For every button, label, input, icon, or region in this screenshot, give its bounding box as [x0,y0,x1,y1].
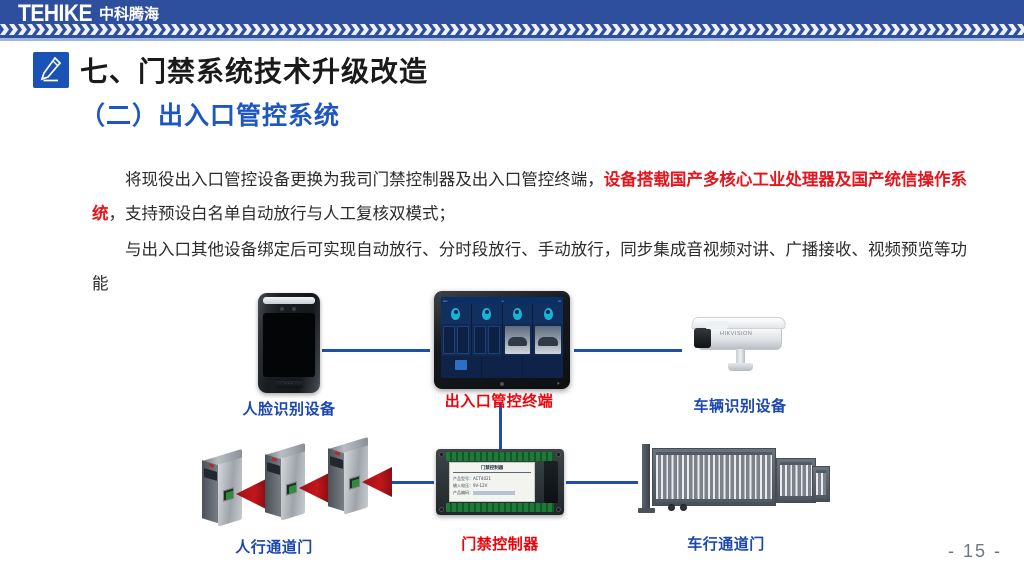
paragraph-1-part-a: 将现役出入口管控设备更换为我司门禁控制器及出入口管控终端， [125,170,604,189]
chevron-icon [657,24,666,35]
connector-controller-to-gate [566,481,638,484]
chevron-icon [1017,24,1024,35]
terminal-screen: ▪▪▪▪▪▪▪▪▪ [441,297,563,378]
label-pedestrian-gate: 人行通道门 [164,536,384,557]
controller-voltage-label: 输入电压： [453,483,473,488]
chevron-icon [468,24,477,35]
chevron-icon [531,24,540,35]
terminal-panel-1-avatar-area [441,304,471,324]
chevron-icon [198,24,207,35]
chevron-icon [621,24,630,35]
camera-base [728,363,753,371]
chevron-icon [45,24,54,35]
label-vehicle-gate: 车行通道门 [616,533,836,554]
chevron-icon [891,24,900,35]
chevron-icon [135,24,144,35]
chevron-icon [801,24,810,35]
gate-post-base [638,508,655,513]
connector-terminal-to-camera [574,349,682,352]
controller-code-barcode [473,491,515,495]
terminal-panel-4 [533,304,563,356]
label-entrance-control-terminal: 出入口管控终端 [389,390,609,411]
chevron-icon [666,24,675,35]
chevron-icon [126,24,135,35]
chevron-icon [963,24,972,35]
chevron-icon [747,24,756,35]
chevron-icon [729,24,738,35]
terminal-screen-columns [441,304,563,356]
terminal-footer-cell-3 [523,356,563,378]
terminal-panel-1-body [441,324,471,356]
chevron-icon [189,24,198,35]
chevron-icon [108,24,117,35]
chevron-icon [360,24,369,35]
page-number: - 15 - [948,541,1002,562]
chevron-icon [324,24,333,35]
chevron-icon [243,24,252,35]
chevron-icon [423,24,432,35]
terminal-panel-3-avatar-area [503,304,533,324]
person-avatar-icon [513,308,522,320]
chevron-icon [369,24,378,35]
chevron-icon [54,24,63,35]
chevron-icon [486,24,495,35]
controller-model-label: 产品型号： [453,476,473,481]
chevron-icon [333,24,342,35]
chevron-icon [585,24,594,35]
chevron-icon [540,24,549,35]
chevron-icon [900,24,909,35]
chevron-icon [378,24,387,35]
chevron-icon [765,24,774,35]
company-logo: TEHIKE 中科腾海 [18,3,159,25]
chevron-icon [252,24,261,35]
app-header-bar: TEHIKE 中科腾海 [0,0,1024,38]
header-underline [0,38,1024,41]
person-avatar-icon [451,308,460,320]
chevron-icon [144,24,153,35]
gate-wheel [680,504,687,511]
chevron-icon [972,24,981,35]
chevron-icon [936,24,945,35]
chevron-icon [153,24,162,35]
controller-screw [439,507,444,512]
pedestrian-turnstile-group-image [196,443,386,529]
gate-rail-top [816,470,826,473]
face-device-speaker: ··· [275,381,303,388]
chevron-icon [630,24,639,35]
chevron-icon [90,24,99,35]
chevron-icon [549,24,558,35]
chevron-icon [990,24,999,35]
controller-side-connector [544,461,558,503]
paragraph-1-part-b: ，支持预设白名单自动放行与人工复核双模式； [109,204,456,223]
face-device-light-bar [263,297,315,304]
person-avatar-icon [544,308,553,320]
controller-voltage-value: 9V-12V [473,483,487,488]
terminal-home-indicator [500,382,504,386]
label-access-controller: 门禁控制器 [390,533,610,554]
chevron-icon [855,24,864,35]
chevron-icon [405,24,414,35]
chevron-icon [396,24,405,35]
chevron-icon [576,24,585,35]
chevron-icon [9,24,18,35]
chevron-icon [36,24,45,35]
terminal-card [488,326,500,354]
controller-screw [556,507,561,512]
chevron-icon [99,24,108,35]
body-text-block: 将现役出入口管控设备更换为我司门禁控制器及出入口管控终端，设备搭载国产多核心工业… [92,163,967,301]
chevron-icon [522,24,531,35]
paragraph-1: 将现役出入口管控设备更换为我司门禁控制器及出入口管控终端，设备搭载国产多核心工业… [92,163,967,231]
gate-leaf-end [812,466,830,502]
controller-screw [556,452,561,457]
chevron-icon [612,24,621,35]
chevron-icon [999,24,1008,35]
chevron-icon [738,24,747,35]
terminal-screen-topbar: ▪▪▪▪▪▪▪▪▪ [441,297,563,304]
chevron-pattern-strip [0,24,1024,35]
chevron-icon [513,24,522,35]
chevron-icon [72,24,81,35]
vehicle-sliding-gate-image [640,440,832,526]
chevron-icon [504,24,513,35]
chevron-icon [495,24,504,35]
chevron-icon [945,24,954,35]
controller-plate-row-voltage: 输入电压：9V-12V [453,482,531,489]
terminal-panel-3-body [503,324,533,356]
turnstile-unit [322,443,374,517]
chevron-icon [981,24,990,35]
pencil-edit-icon [33,52,69,88]
label-vehicle-recognition-device: 车辆识别设备 [630,395,850,416]
terminal-footer-cell-1 [441,356,482,378]
vehicle-recognition-camera-image: HIKVISION [684,305,804,381]
terminal-panel-2-avatar-area [472,304,502,324]
chevron-icon [792,24,801,35]
controller-terminal-block-top [446,452,554,461]
chevron-icon [234,24,243,35]
chevron-icon [270,24,279,35]
camera-brand-text: HIKVISION [720,331,752,337]
page-subtitle: （二）出入口管控系统 [80,96,340,132]
controller-spec-plate: 门禁控制器 产品型号：ACT4021 输入电压：9V-12V 产品编码： [449,462,535,502]
terminal-card [457,326,469,354]
chevron-icon [261,24,270,35]
gate-rail-top [780,462,812,465]
gate-leaf-middle [776,458,816,503]
chevron-icon [450,24,459,35]
chevron-icon [882,24,891,35]
controller-plate-row-code: 产品编码： [453,489,531,496]
terminal-panel-4-body [533,324,563,356]
gate-rail-bottom [656,499,772,502]
label-face-recognition-device: 人脸识别设备 [179,398,399,419]
chevron-icon [441,24,450,35]
chevron-icon [846,24,855,35]
chevron-icon [342,24,351,35]
chevron-icon [864,24,873,35]
system-topology-diagram: ··· 人脸识别设备 ▪▪▪▪▪▪▪▪▪ [0,285,1024,555]
chevron-icon [459,24,468,35]
chevron-icon [648,24,657,35]
controller-plate-row-model: 产品型号：ACT4021 [453,475,531,482]
gate-bars [816,473,826,495]
chevron-icon [180,24,189,35]
chevron-icon [81,24,90,35]
chevron-icon [1008,24,1017,35]
controller-plate-title: 门禁控制器 [453,465,531,473]
chevron-icon [774,24,783,35]
gate-rail-bottom [816,495,826,498]
terminal-footer-cell-2 [482,356,523,378]
chevron-icon [18,24,27,35]
chevron-icon [216,24,225,35]
vehicle-snapshot-image [535,326,561,354]
chevron-icon [810,24,819,35]
terminal-brand-mark: ◕ [556,381,560,387]
gate-rail-bottom [780,496,812,499]
chevron-icon [27,24,36,35]
chevron-icon [117,24,126,35]
terminal-card [474,326,486,354]
chevron-icon [675,24,684,35]
logo-chinese-text: 中科腾海 [99,3,159,25]
terminal-panel-4-avatar-area [533,304,563,324]
terminal-panel-2-body [472,324,502,356]
gate-rail-top [656,452,772,455]
terminal-screen-footer [441,356,563,378]
chevron-icon [639,24,648,35]
chevron-icon [783,24,792,35]
chevron-icon [558,24,567,35]
chevron-icon [0,24,9,35]
entrance-control-terminal-image: ▪▪▪▪▪▪▪▪▪ [434,291,570,389]
chevron-icon [414,24,423,35]
chevron-icon [756,24,765,35]
gate-bars [656,455,772,499]
chevron-icon [837,24,846,35]
chevron-icon [162,24,171,35]
chevron-icon [711,24,720,35]
chevron-icon [693,24,702,35]
chevron-icon [207,24,216,35]
terminal-panel-3 [503,304,534,356]
chevron-icon [909,24,918,35]
chevron-icon [297,24,306,35]
chevron-icon [828,24,837,35]
chevron-icon [873,24,882,35]
chevron-icon [63,24,72,35]
person-avatar-icon [482,308,491,320]
chevron-icon [279,24,288,35]
gate-wheel [668,504,675,511]
gate-leaf-main [652,448,776,506]
face-device-camera-dot-right [292,307,296,311]
chevron-icon [954,24,963,35]
page-title: 七、门禁系统技术升级改造 [80,50,428,90]
face-device-screen [263,313,315,377]
controller-screw [439,452,444,457]
chevron-icon [702,24,711,35]
terminal-panel-2 [472,304,503,356]
chevron-icon [432,24,441,35]
chevron-icon [927,24,936,35]
turnstile-unit [196,455,248,529]
controller-terminal-block-bottom [446,503,554,512]
chevron-icon [819,24,828,35]
app-tile-icon [455,360,467,370]
face-device-camera-dot-left [280,307,284,311]
chevron-icon [315,24,324,35]
gate-bars [780,465,812,496]
chevron-icon [720,24,729,35]
chevron-icon [351,24,360,35]
chevron-icon [306,24,315,35]
face-recognition-device-image: ··· [258,293,320,393]
controller-model-value: ACT4021 [473,476,491,481]
chevron-icon [225,24,234,35]
chevron-icon [918,24,927,35]
vehicle-snapshot-image [505,326,531,354]
chevron-icon [603,24,612,35]
controller-code-label: 产品编码： [453,490,473,495]
camera-ir-illuminator [705,321,728,329]
connector-face-to-terminal [322,349,430,352]
turnstile-unit [259,449,311,523]
terminal-card [443,326,455,354]
chevron-icon [288,24,297,35]
camera-lens [694,328,711,348]
chevron-icon [684,24,693,35]
logo-latin-text: TEHIKE [18,1,92,26]
gate-post [642,444,650,510]
chevron-icon [171,24,180,35]
chevron-icon [477,24,486,35]
chevron-icon [594,24,603,35]
terminal-panel-1 [441,304,472,356]
chevron-icon [387,24,396,35]
chevron-icon [567,24,576,35]
access-controller-image: 门禁控制器 产品型号：ACT4021 输入电压：9V-12V 产品编码： [436,449,564,515]
